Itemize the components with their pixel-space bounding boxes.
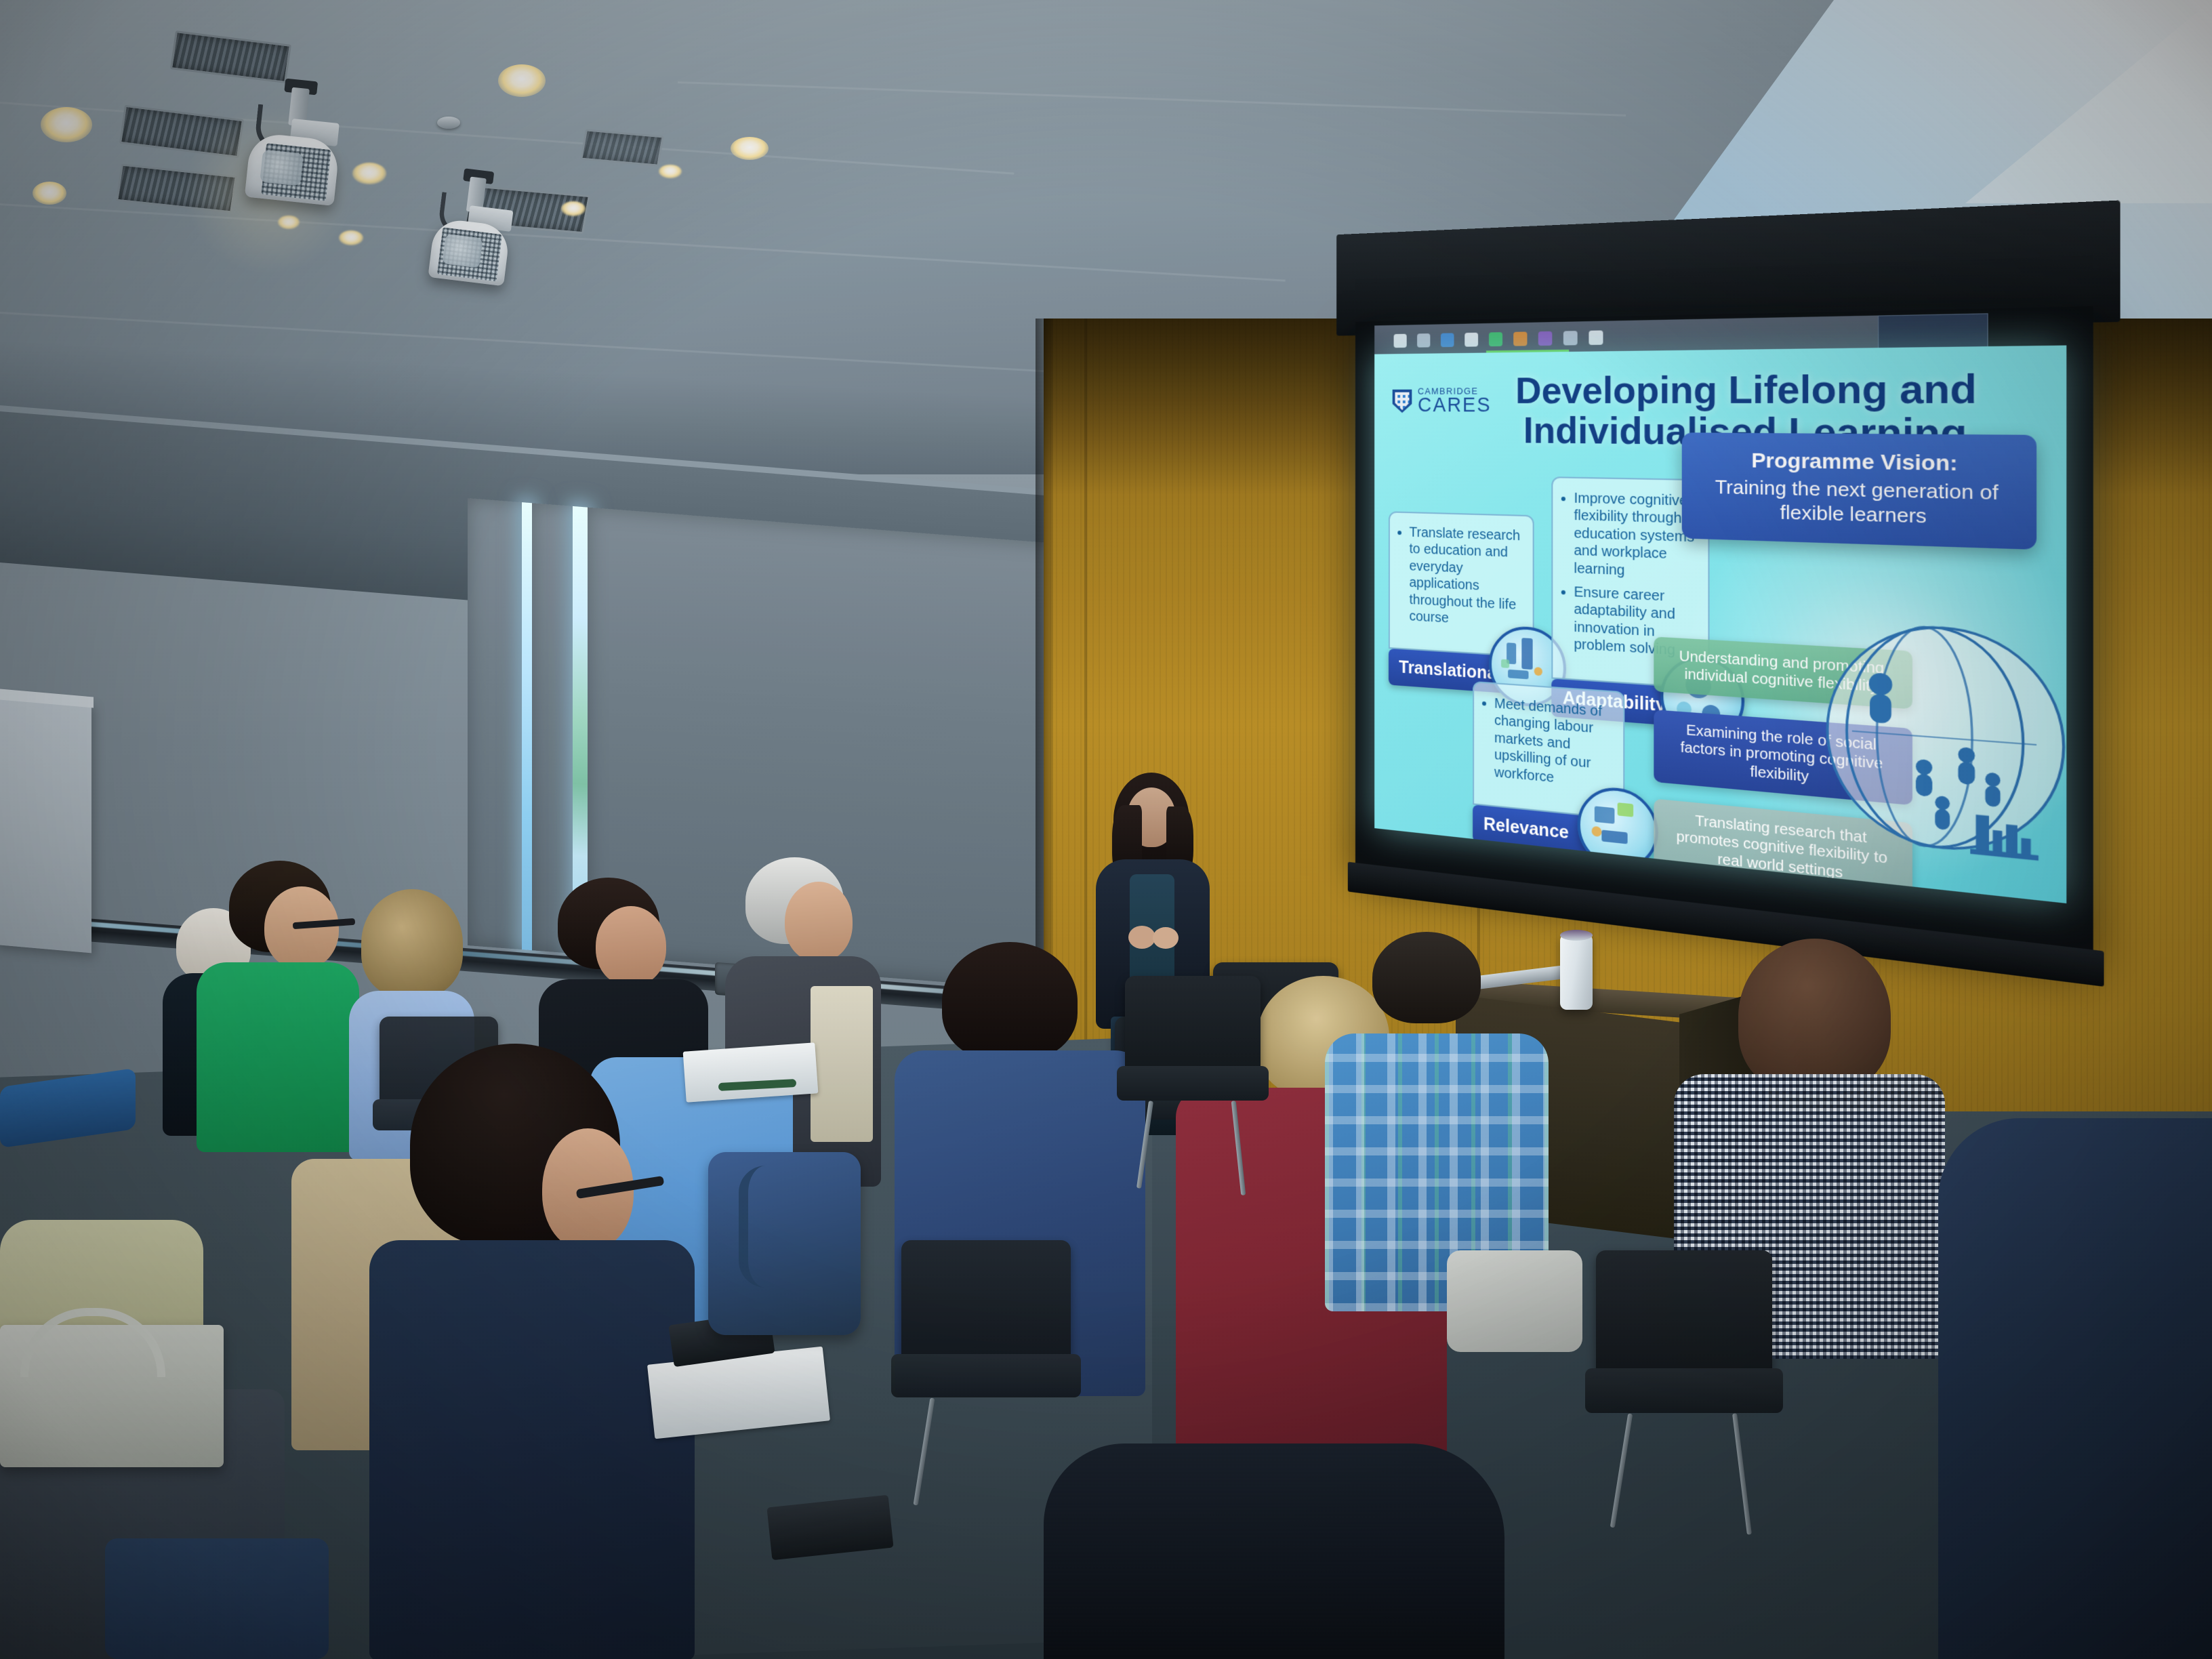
scarf — [811, 986, 873, 1142]
attendee-navy-hoodie-front — [369, 1044, 695, 1659]
explorer-icon[interactable] — [1441, 333, 1454, 347]
chair[interactable] — [1125, 976, 1261, 1132]
attendee-plaid-shirt — [1325, 932, 1549, 1311]
flipchart-easel — [0, 694, 91, 954]
chair[interactable] — [1596, 1250, 1772, 1454]
paper-handout[interactable] — [683, 1042, 819, 1102]
pillar-bullet: Improve cognitive flexibility through ed… — [1574, 490, 1697, 583]
search-icon[interactable] — [1417, 333, 1430, 348]
vision-heading: Programme Vision: — [1697, 447, 2020, 478]
projector-lens — [442, 234, 483, 268]
projector-lens — [260, 150, 304, 186]
ceiling-projector-left — [244, 83, 346, 214]
ceiling-projector-right — [428, 173, 516, 281]
presentation-slide: CAMBRIDGE CARES Developing Lifelong and … — [1374, 346, 2066, 903]
settings-icon[interactable] — [1589, 330, 1603, 345]
projection-screen[interactable]: CAMBRIDGE CARES Developing Lifelong and … — [1355, 306, 2093, 951]
attendee-navy-right-edge — [1938, 1118, 2212, 1659]
ceiling-downlight — [33, 182, 66, 205]
ceiling-downlight — [731, 137, 769, 160]
seminar-room-photo: CAMBRIDGE CARES Developing Lifelong and … — [0, 0, 2212, 1659]
vision-text: Training the next generation of flexible… — [1715, 476, 1999, 527]
ceiling-downlight — [561, 201, 586, 216]
pillar-translational: Translate research to education and ever… — [1389, 511, 1534, 695]
hoodie — [369, 1240, 695, 1659]
ceiling-downlight — [41, 107, 92, 142]
trousers — [1447, 1250, 1582, 1352]
mail-icon[interactable] — [1465, 333, 1478, 347]
programme-vision-box: Programme Vision: Training the next gene… — [1682, 432, 2036, 549]
bluetooth-speaker[interactable] — [1560, 934, 1593, 1010]
handbag-blue[interactable] — [105, 1538, 329, 1659]
start-icon[interactable] — [1394, 334, 1407, 348]
backpack-strap — [739, 1166, 823, 1288]
attendee-green-polo — [197, 861, 359, 1145]
excel-icon[interactable] — [1489, 332, 1502, 346]
ceiling-downlight — [339, 230, 363, 245]
ceiling-downlight — [278, 216, 300, 229]
pillar-bullet: Translate research to education and ever… — [1410, 524, 1523, 631]
attendee-top — [197, 962, 359, 1152]
smoke-detector-icon — [437, 117, 460, 129]
ceiling-downlight — [352, 163, 386, 184]
globe-people-graphic — [1799, 602, 2066, 880]
shield-icon — [1393, 390, 1412, 413]
chair[interactable] — [901, 1240, 1071, 1437]
pillar-relevance: Meet demands of changing labour markets … — [1473, 681, 1624, 858]
teams-icon[interactable] — [1538, 331, 1553, 346]
ceiling-downlight — [498, 64, 546, 97]
ceiling-downlight — [659, 165, 682, 178]
powerpoint-icon[interactable] — [1513, 331, 1527, 346]
browser-icon[interactable] — [1563, 331, 1578, 345]
attendee-foreground-dark — [1044, 1443, 1504, 1659]
pillar-bullet: Meet demands of changing labour markets … — [1494, 695, 1613, 792]
